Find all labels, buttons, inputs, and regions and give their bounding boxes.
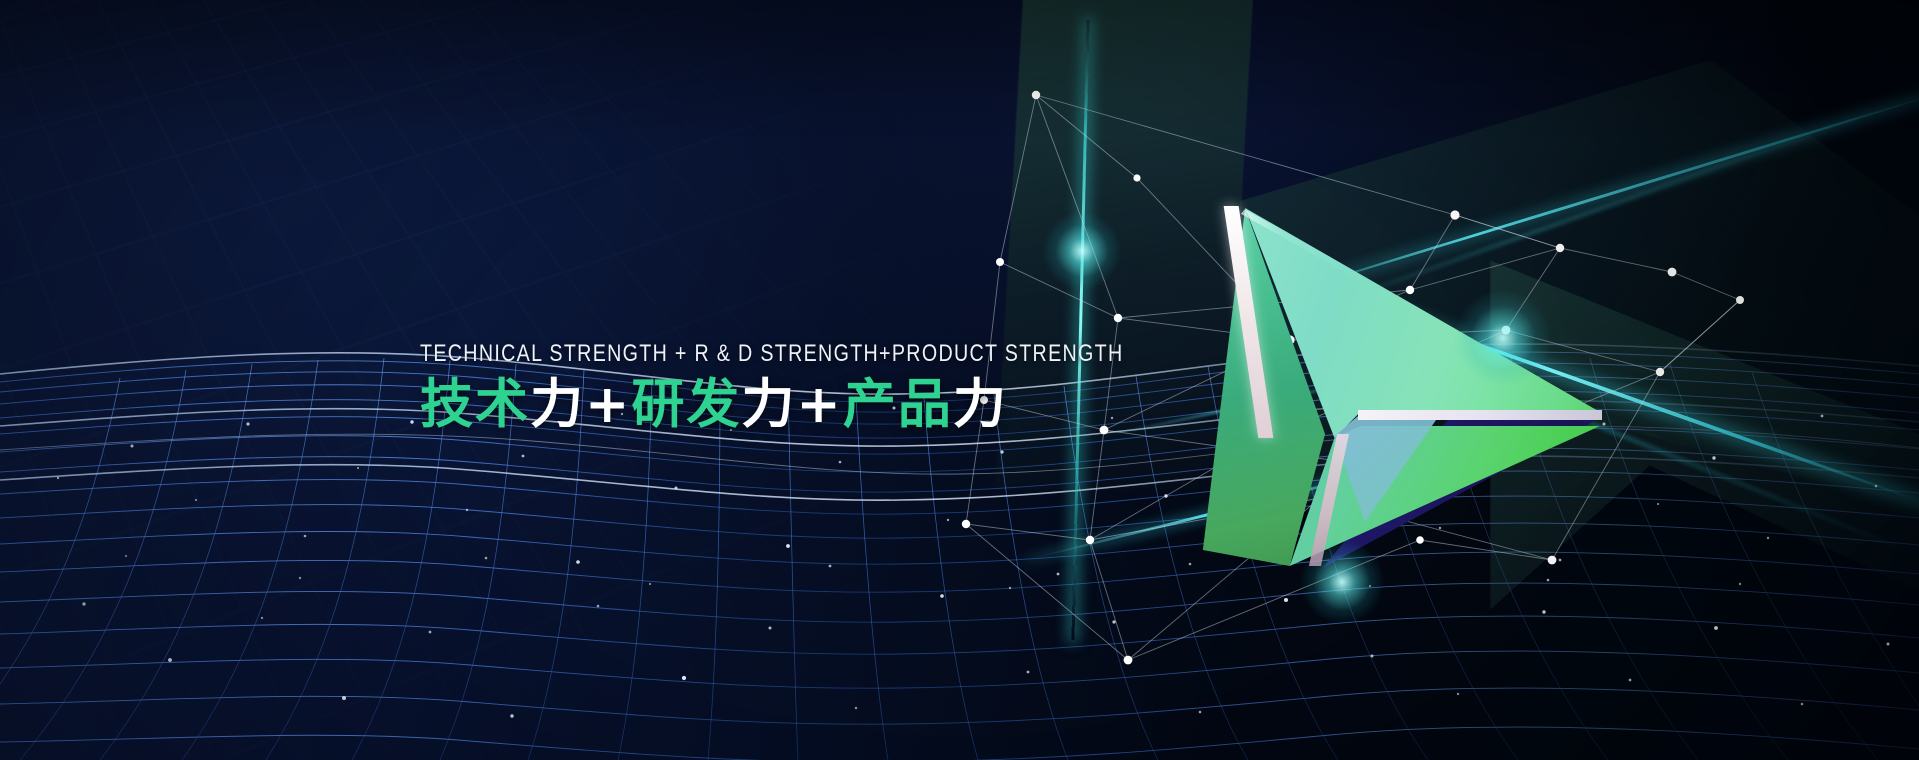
headline-segment-2: + xyxy=(585,374,631,435)
hero-headline: 技术力+研发力+产品力 xyxy=(420,377,1278,433)
headline-segment-5: + xyxy=(796,374,842,435)
headline-segment-7: 力 xyxy=(953,374,1008,435)
headline-segment-3: 研发 xyxy=(631,374,741,435)
headline-segment-1: 力 xyxy=(530,374,585,435)
hero-eyebrow: TECHNICAL STRENGTH + R & D STRENGTH+PROD… xyxy=(420,340,1124,368)
headline-segment-6: 产品 xyxy=(843,374,953,435)
hero-text-block: TECHNICAL STRENGTH + R & D STRENGTH+PROD… xyxy=(420,340,1278,433)
headline-segment-0: 技术 xyxy=(420,374,530,435)
hero-banner: TECHNICAL STRENGTH + R & D STRENGTH+PROD… xyxy=(0,0,1919,760)
headline-segment-4: 力 xyxy=(741,374,796,435)
